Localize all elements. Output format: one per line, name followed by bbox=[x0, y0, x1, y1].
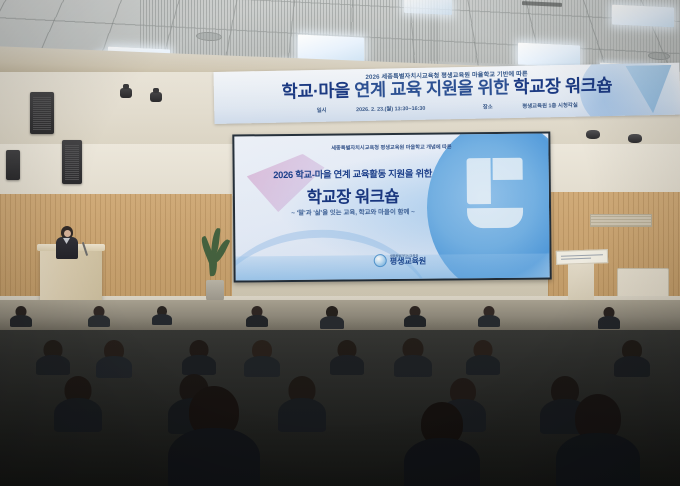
banner-title-normal: 연계 교육 지원을 위한 bbox=[350, 77, 514, 100]
ceiling-panel-light bbox=[612, 5, 674, 28]
audience-member bbox=[246, 306, 268, 326]
stage-spotlight bbox=[150, 92, 162, 102]
plant-leaf bbox=[208, 250, 218, 276]
audience-shoulders bbox=[88, 315, 110, 327]
potted-plant bbox=[200, 226, 230, 302]
audience-member-foreground bbox=[168, 386, 260, 486]
audience-member bbox=[10, 306, 32, 326]
stage-spotlight bbox=[120, 88, 132, 98]
audience-shoulders bbox=[168, 428, 260, 486]
audience-area bbox=[0, 300, 680, 486]
audience-member bbox=[320, 306, 344, 328]
pa-speaker-grille bbox=[33, 96, 51, 130]
slide-content: 세종특별자치시교육청 평생교육원 마을학교 개념에 따른 2026 학교-마을 … bbox=[234, 133, 549, 280]
slide-subtitle: 2026 학교-마을 연계 교육활동 지원을 위한 bbox=[241, 165, 465, 181]
speaker-face bbox=[64, 230, 71, 237]
audience-member-foreground bbox=[404, 402, 480, 486]
ceiling-panel-light bbox=[518, 43, 580, 68]
audience-member bbox=[598, 307, 620, 328]
audience-shoulders bbox=[10, 315, 32, 327]
audience-member bbox=[404, 306, 426, 326]
slide-title: 학교장 워크숍 bbox=[241, 182, 465, 208]
auditorium-photo: 2026 세종특별자치시교육청 평생교육원 마을학교 기반에 따른 학교·마을 … bbox=[0, 0, 680, 486]
side-display-stand bbox=[568, 258, 594, 304]
audience-shoulders bbox=[478, 315, 500, 327]
audience-shoulders bbox=[404, 315, 426, 327]
ceiling-speaker bbox=[628, 134, 642, 143]
plant-pot bbox=[206, 280, 224, 302]
audience-shoulders bbox=[152, 314, 172, 325]
ceiling-panel-light bbox=[298, 35, 364, 62]
banner-title-bold-1: 학교·마을 bbox=[281, 80, 350, 101]
projection-screen: 세종특별자치시교육청 평생교육원 마을학교 개념에 따른 2026 학교-마을 … bbox=[232, 131, 551, 282]
banner-place: 장소 평생교육원 1층 시청각실 bbox=[469, 102, 592, 110]
audience-shoulders bbox=[404, 438, 480, 486]
logo-main-text: 평생교육원 bbox=[390, 258, 426, 267]
side-display-sign bbox=[556, 249, 608, 265]
banner-date: 일시 2026. 2. 23.(월) 13:30~16:30 bbox=[303, 105, 440, 114]
event-banner: 2026 세종특별자치시교육청 평생교육원 마을학교 기반에 따른 학교·마을 … bbox=[213, 63, 680, 124]
audience-shoulders bbox=[556, 433, 640, 486]
audience-member bbox=[88, 306, 110, 326]
audience-member-foreground bbox=[556, 394, 640, 486]
ceiling-panel-light bbox=[404, 0, 452, 15]
audience-member bbox=[478, 306, 500, 326]
speaker-presenter bbox=[55, 226, 79, 258]
wall-vent-icon bbox=[590, 214, 652, 227]
slide-organization-logo: 세종특별자치시교육청 평생교육원 bbox=[374, 254, 426, 268]
banner-title-bold-2: 학교장 워크숍 bbox=[513, 75, 612, 97]
pa-speaker-left-small bbox=[6, 150, 20, 180]
slide-logo-mark bbox=[467, 158, 526, 255]
ceiling-speaker bbox=[586, 130, 600, 139]
audience-shoulders bbox=[246, 315, 268, 327]
pa-speaker-grille bbox=[65, 144, 79, 180]
logo-emblem-icon bbox=[374, 254, 387, 267]
audience-member bbox=[152, 306, 172, 324]
